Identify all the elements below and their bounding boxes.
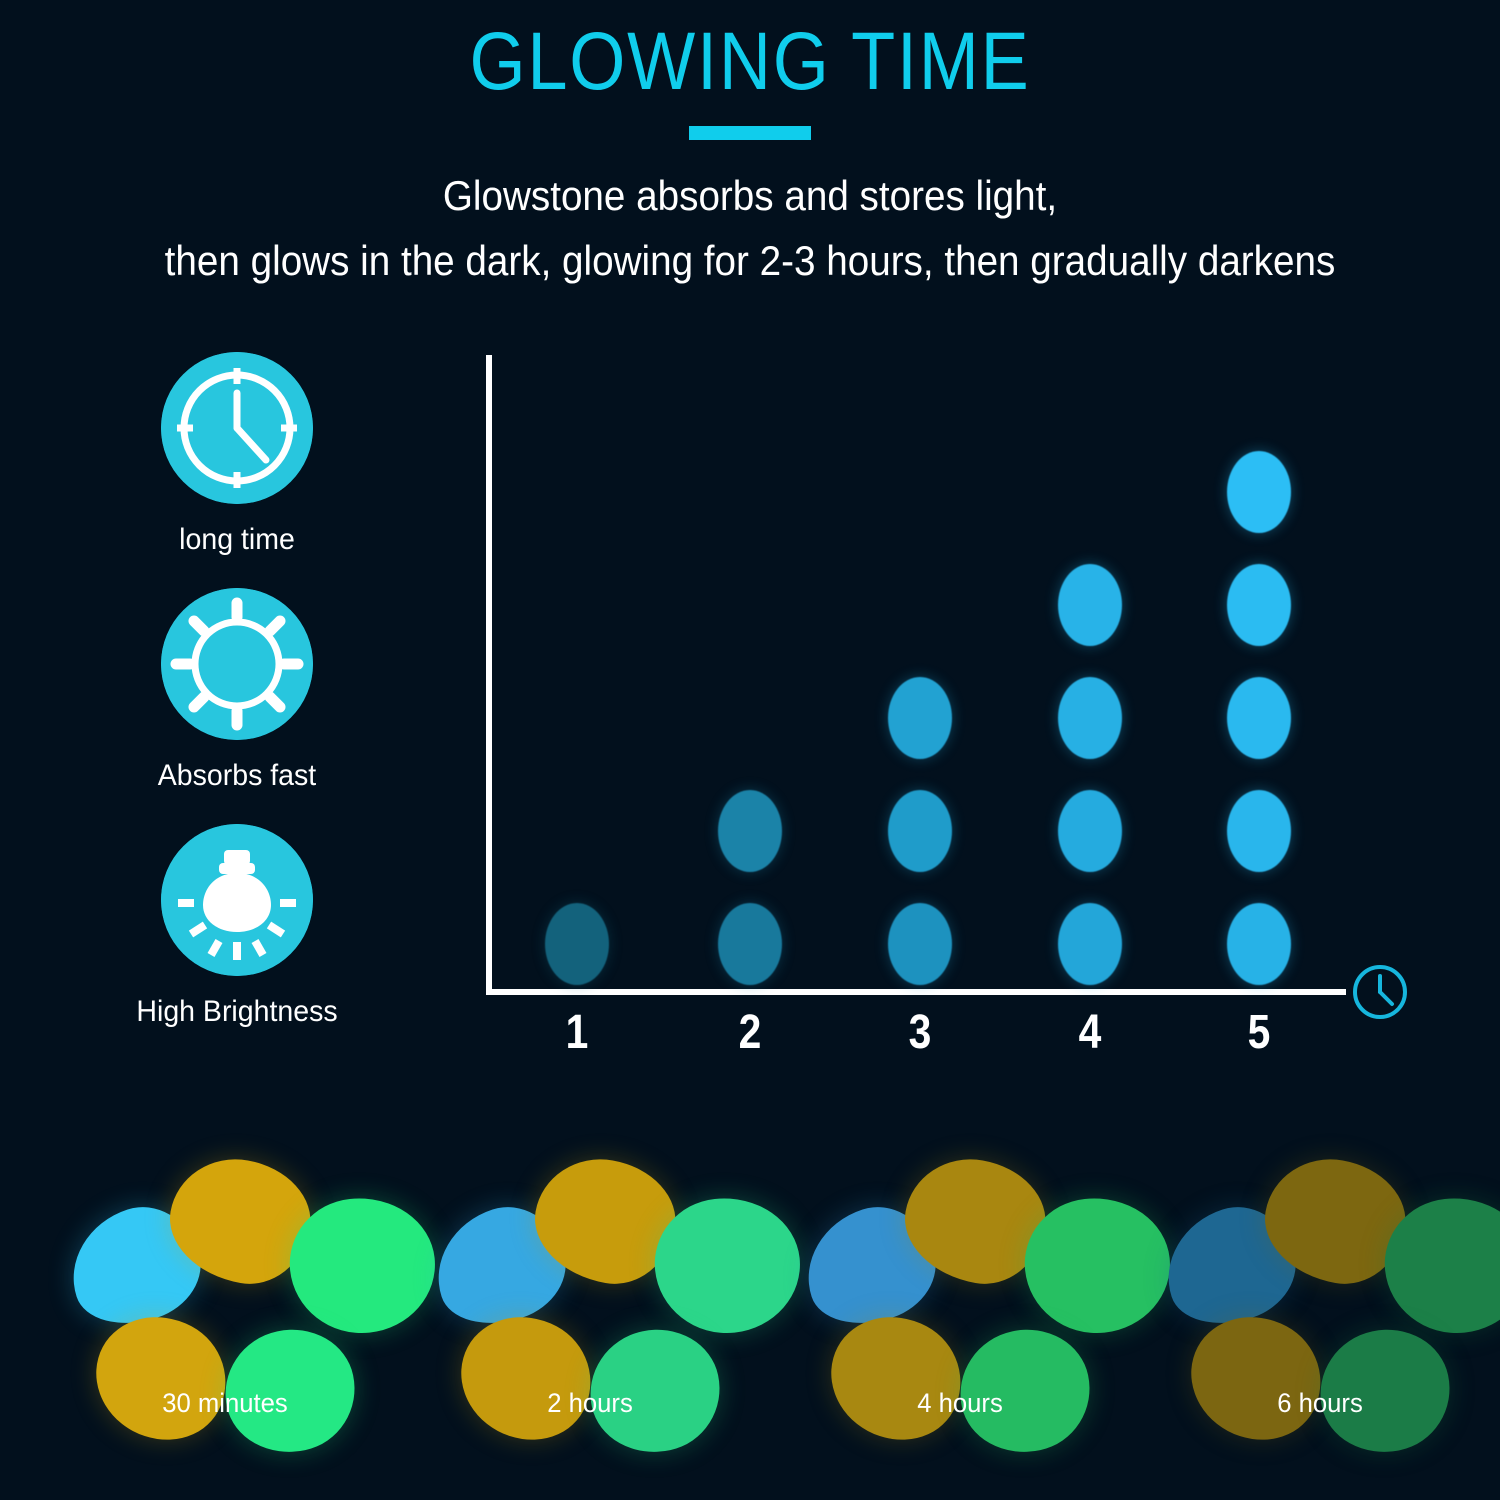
chart-glow-oval (1227, 903, 1291, 985)
feature-label: long time (118, 518, 356, 562)
feature-item-high-brightness: High Brightness (112, 824, 362, 1034)
chart-x-tick-5: 5 (1225, 1005, 1293, 1060)
feature-item-long-time: long time (112, 352, 362, 562)
timeline-cluster: 4 hours (790, 1150, 1130, 1480)
timeline-cluster-label: 6 hours (1159, 1388, 1482, 1419)
chart-x-tick-4: 4 (1056, 1005, 1124, 1060)
chart-glow-oval (718, 790, 782, 872)
chart-x-tick-2: 2 (716, 1005, 784, 1060)
chart-x-tick-labels: 12345 (470, 1005, 1430, 1075)
chart-glow-oval (1227, 677, 1291, 759)
chart-x-tick-3: 3 (886, 1005, 954, 1060)
subtitle-line-2: then glows in the dark, glowing for 2-3 … (60, 229, 1440, 292)
chart-glow-oval (545, 903, 609, 985)
page-title: GLOWING TIME (90, 14, 1410, 110)
chart-glow-oval (1058, 677, 1122, 759)
timeline-cluster-label: 30 minutes (64, 1388, 387, 1419)
chart-glow-oval (1058, 564, 1122, 646)
glowing-time-infographic: GLOWING TIME Glowstone absorbs and store… (0, 0, 1500, 1500)
lightbulb-icon (161, 824, 313, 976)
feature-label: High Brightness (118, 990, 356, 1034)
timeline-cluster-label: 2 hours (429, 1388, 752, 1419)
title-underline-rule (689, 126, 811, 140)
chart-glow-oval (888, 903, 952, 985)
pebble-group (420, 1150, 760, 1400)
chart-glow-oval (1227, 790, 1291, 872)
timeline-cluster: 6 hours (1150, 1150, 1490, 1480)
feature-item-absorbs-fast: Absorbs fast (112, 588, 362, 798)
chart-glow-oval (888, 677, 952, 759)
timeline-cluster: 2 hours (420, 1150, 760, 1480)
glow-fade-timeline: 30 minutes2 hours4 hours6 hours (0, 1150, 1500, 1480)
feature-label: Absorbs fast (118, 754, 356, 798)
timeline-cluster-label: 4 hours (799, 1388, 1122, 1419)
clock-icon (161, 352, 313, 504)
chart-glow-oval (1227, 451, 1291, 533)
pebble-group (790, 1150, 1130, 1400)
feature-list: long time Absorbs fast (112, 352, 362, 1060)
chart-glow-oval (1058, 790, 1122, 872)
sun-icon (161, 588, 313, 740)
header: GLOWING TIME Glowstone absorbs and store… (0, 14, 1500, 292)
timeline-cluster: 30 minutes (55, 1150, 395, 1480)
chart-glow-oval (718, 903, 782, 985)
chart-glow-oval (1058, 903, 1122, 985)
glow-intensity-chart: 12345 (470, 345, 1430, 1085)
pebble-group (1150, 1150, 1490, 1400)
subtitle-line-1: Glowstone absorbs and stores light, (60, 164, 1440, 227)
chart-x-tick-1: 1 (543, 1005, 611, 1060)
pebble-group (55, 1150, 395, 1400)
chart-plot-area (470, 345, 1430, 1005)
chart-glow-oval (1227, 564, 1291, 646)
chart-glow-oval (888, 790, 952, 872)
